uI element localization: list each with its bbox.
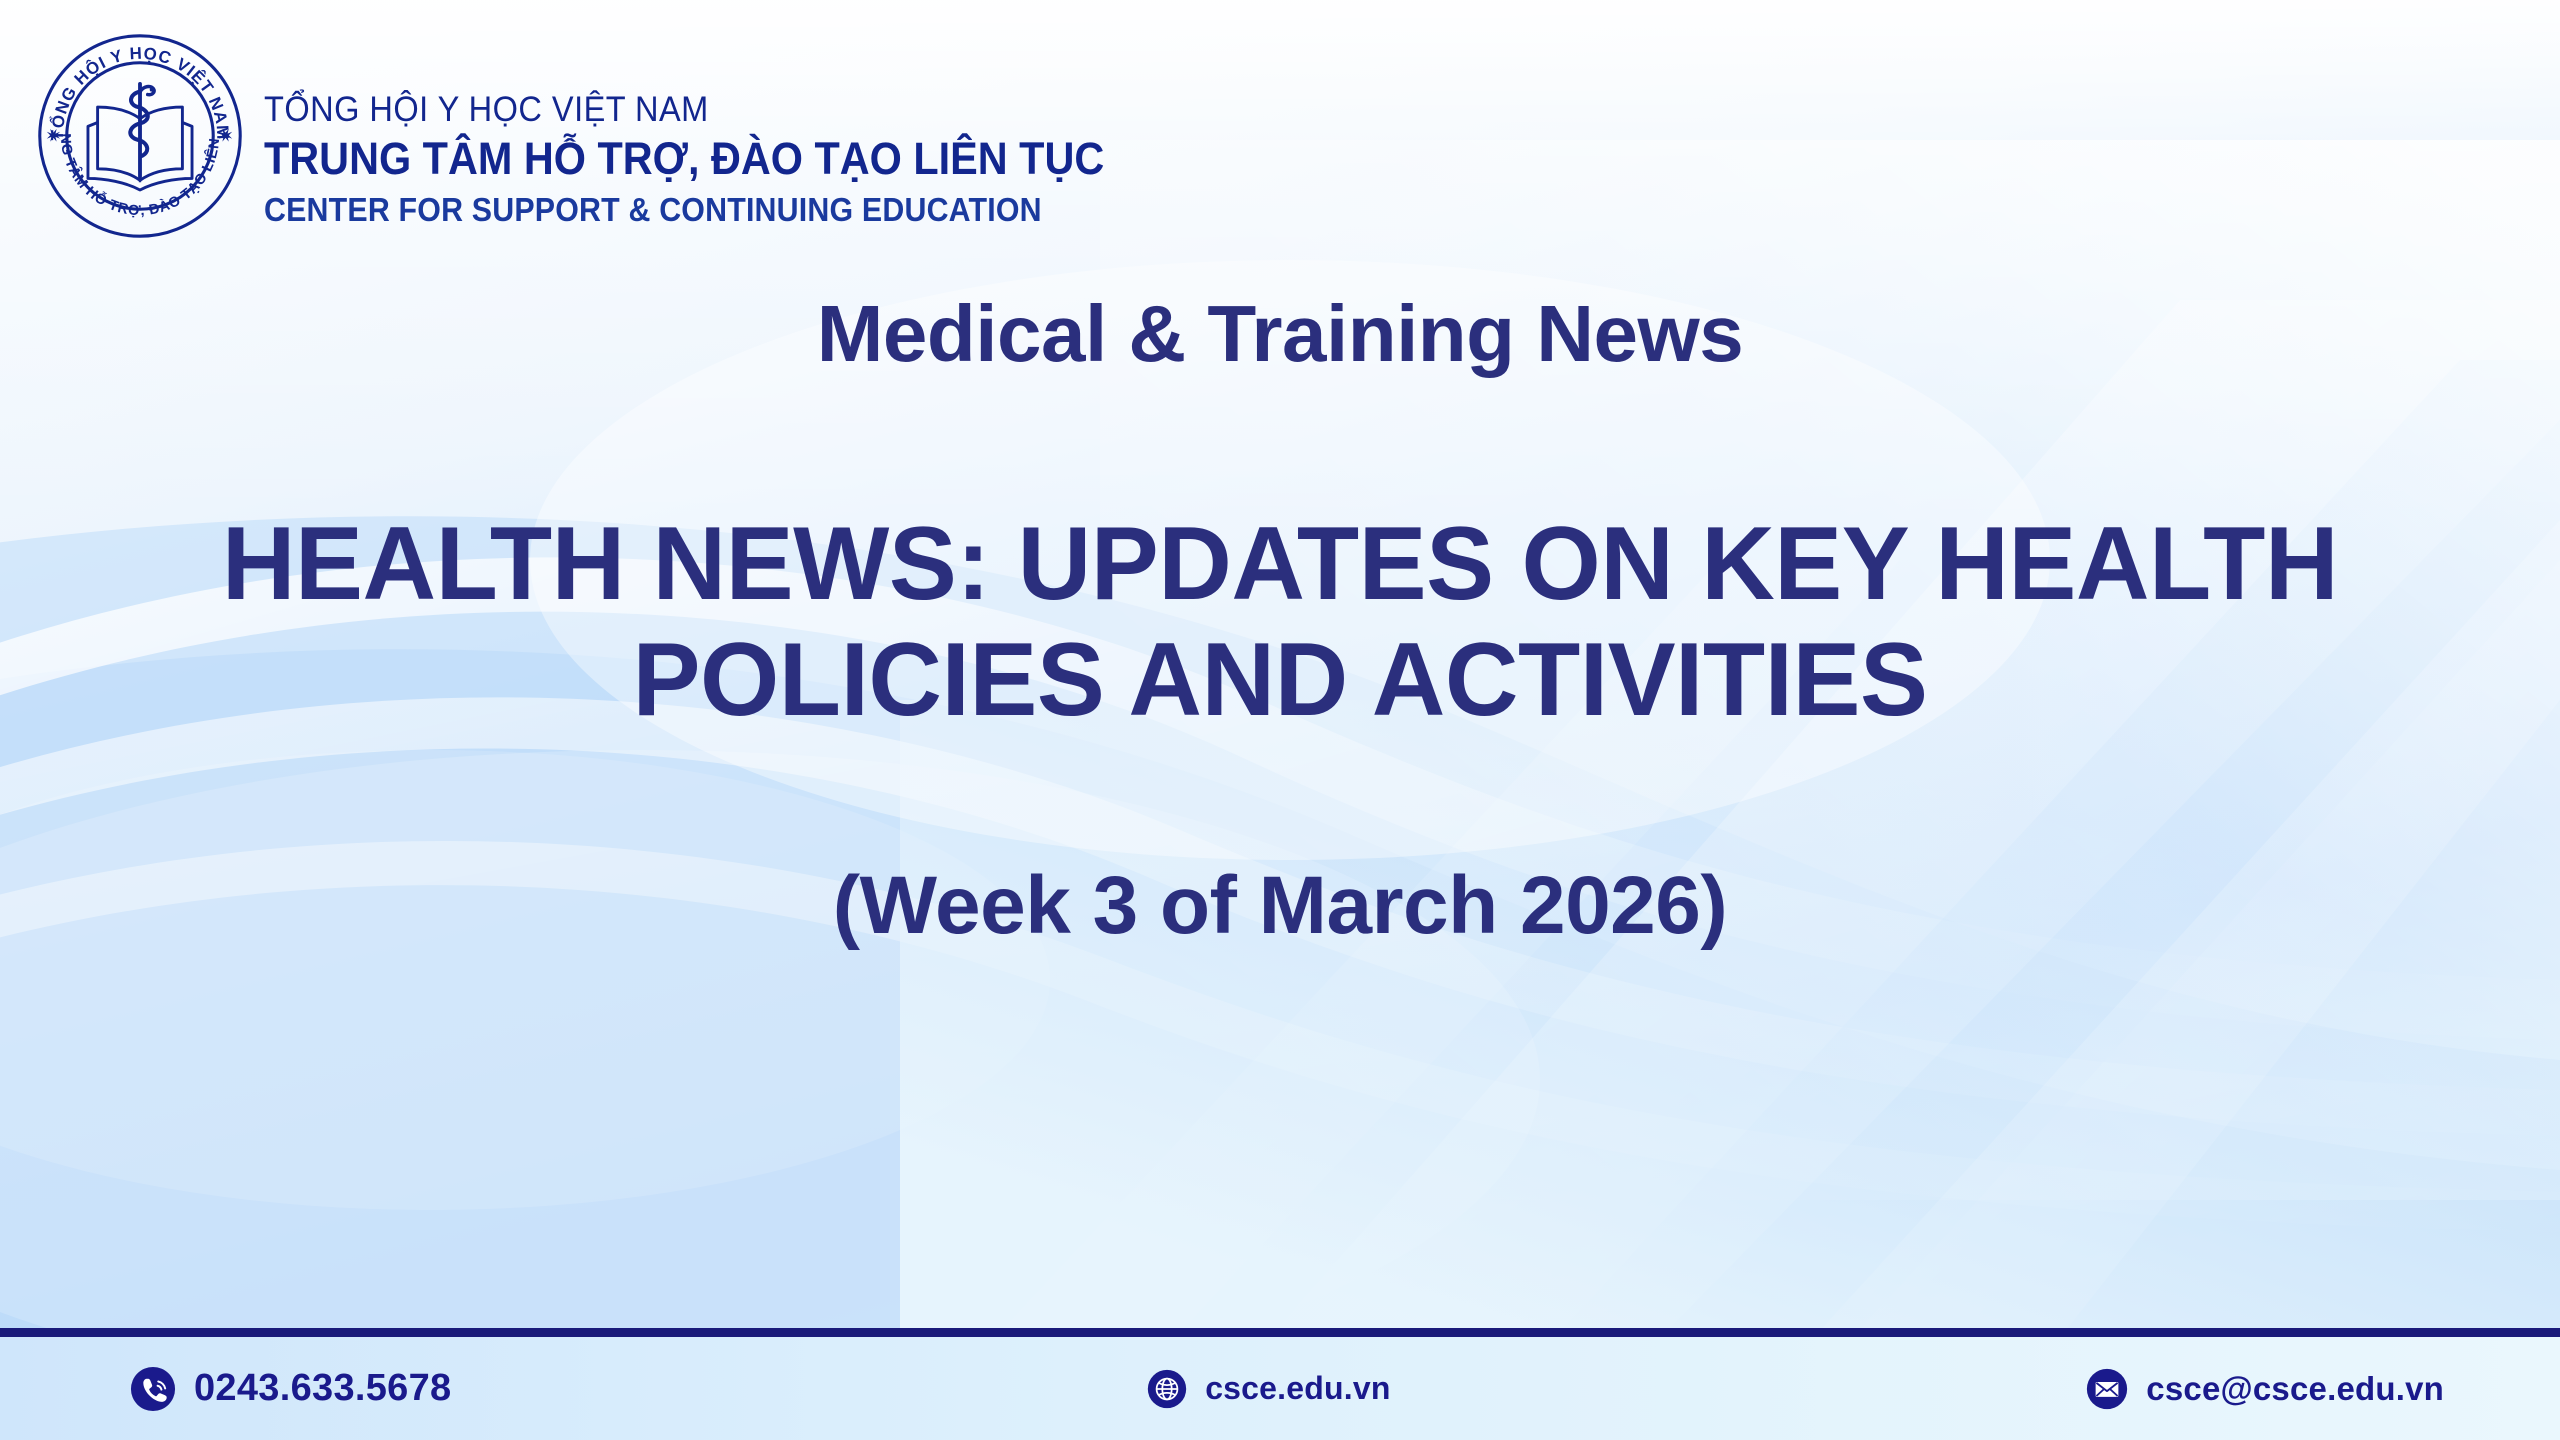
footer-divider <box>0 1328 2560 1337</box>
logo-line-center-en: CENTER FOR SUPPORT & CONTINUING EDUCATIO… <box>264 190 1104 230</box>
logo-line-center-vi: TRUNG TÂM HỖ TRỢ, ĐÀO TẠO LIÊN TỤC <box>264 132 1104 186</box>
phone-number: 0243.633.5678 <box>194 1367 452 1410</box>
envelope-icon <box>2086 1368 2128 1410</box>
website-url: csce.edu.vn <box>1205 1370 1390 1407</box>
issue-period: (Week 3 of March 2026) <box>90 861 2470 951</box>
footer-phone[interactable]: 0243.633.5678 <box>130 1366 452 1412</box>
headline-line-1: HEALTH NEWS: UPDATES ON KEY HEALTH <box>114 506 2446 622</box>
footer-contact-bar: 0243.633.5678 csce.edu.vn csce@csce.edu.… <box>0 1337 2560 1440</box>
page-title: HEALTH NEWS: UPDATES ON KEY HEALTH POLIC… <box>114 506 2446 739</box>
kicker-text: Medical & Training News <box>90 290 2470 378</box>
email-address: csce@csce.edu.vn <box>2146 1370 2444 1408</box>
footer-email[interactable]: csce@csce.edu.vn <box>2086 1368 2444 1410</box>
logo-line-association: TỔNG HỘI Y HỌC VIỆT NAM <box>264 89 1113 130</box>
footer-website[interactable]: csce.edu.vn <box>452 1369 2087 1409</box>
vietnam-medical-association-seal-icon: TỔNG HỘI Y HỌC VIỆT NAM TRUNG TÂM HỖ TRỢ… <box>34 30 246 242</box>
phone-icon <box>130 1366 176 1412</box>
logo-text-block: TỔNG HỘI Y HỌC VIỆT NAM TRUNG TÂM HỖ TRỢ… <box>264 43 1177 230</box>
headline-line-2: POLICIES AND ACTIVITIES <box>114 622 2446 738</box>
organization-logo: TỔNG HỘI Y HỌC VIỆT NAM TRUNG TÂM HỖ TRỢ… <box>34 30 1177 242</box>
slide-content: Medical & Training News HEALTH NEWS: UPD… <box>0 290 2560 951</box>
globe-icon <box>1147 1369 1187 1409</box>
